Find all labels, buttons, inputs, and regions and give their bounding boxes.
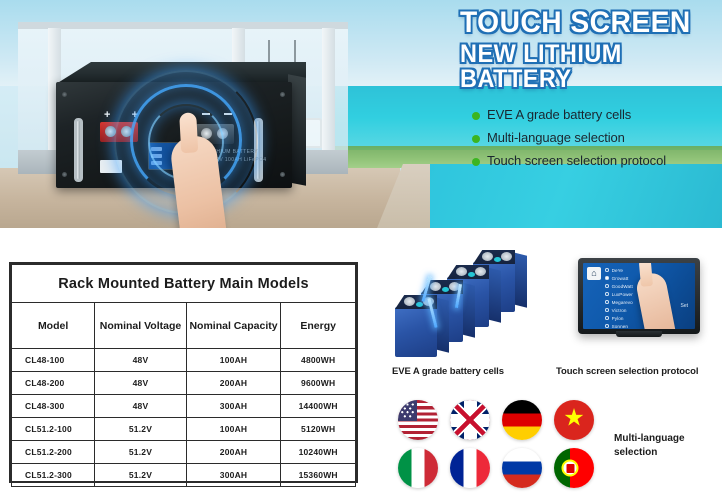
list-item: EVE A grade battery cells — [472, 108, 720, 123]
protocol-option[interactable]: Sonnen — [605, 322, 633, 329]
flag-france[interactable] — [450, 448, 490, 488]
monitor-bezel: ⌂ DeYe Growatt GoodWatt LuxPower — [578, 258, 700, 334]
table-title: Rack Mounted Battery Main Models — [12, 265, 356, 303]
cell-energy: 4800WH — [281, 349, 356, 372]
flag-russia[interactable] — [502, 448, 542, 488]
table-row: CL48-300 48V 300AH 14400WH — [12, 395, 356, 418]
flag-germany[interactable] — [502, 400, 542, 440]
cell-energy: 5120WH — [281, 418, 356, 441]
page-title-line1: TOUCH SCREEN — [460, 8, 703, 39]
set-button[interactable]: Set — [680, 303, 688, 309]
cell-energy: 14400WH — [281, 395, 356, 418]
cell-vent-icon — [494, 257, 501, 262]
list-item: Multi-language selection — [472, 131, 720, 146]
list-item: Touch screen selection protocol — [472, 154, 720, 169]
protocol-list[interactable]: DeYe Growatt GoodWatt LuxPower Megarevo — [605, 266, 633, 329]
monitor-display[interactable]: ⌂ DeYe Growatt GoodWatt LuxPower — [583, 263, 695, 329]
table-title-row: Rack Mounted Battery Main Models — [12, 265, 356, 303]
radio-icon[interactable] — [605, 316, 609, 320]
page-title-line2: NEW LITHIUM BATTERY — [460, 42, 703, 93]
table-row: CL51.2-100 51.2V 100AH 5120WH — [12, 418, 356, 441]
cell-vent-icon — [442, 287, 449, 292]
prismatic-cell — [395, 295, 447, 357]
radio-icon[interactable] — [605, 300, 609, 304]
radio-icon[interactable] — [605, 292, 609, 296]
home-icon[interactable]: ⌂ — [587, 267, 601, 280]
cell-model: CL51.2-200 — [12, 441, 95, 464]
multi-language-label-line2: selection — [614, 446, 714, 460]
column-header-capacity: Nominal Capacity — [186, 303, 281, 349]
cell-capacity: 100AH — [186, 349, 281, 372]
cell-energy: 9600WH — [281, 372, 356, 395]
battery-handle-left[interactable] — [74, 118, 83, 182]
rack-battery-product: + + LITHIUM BATTE — [56, 62, 306, 190]
multi-language-label: Multi-language selection — [614, 432, 714, 459]
protocol-label: Sonnen — [612, 324, 628, 329]
cell-model: CL51.2-300 — [12, 464, 95, 487]
protocol-label: Pylon — [612, 316, 624, 321]
bullet-dot-icon — [472, 135, 480, 143]
radio-icon[interactable] — [605, 308, 609, 312]
hero-headline: TOUCH SCREEN NEW LITHIUM BATTERY — [460, 8, 718, 93]
flag-united-states[interactable] — [398, 400, 438, 440]
protocol-option[interactable]: Pylon — [605, 314, 633, 322]
armillary-icon — [562, 460, 579, 477]
flag-portugal[interactable] — [554, 448, 594, 488]
protocol-label: Growatt — [612, 276, 629, 281]
hero-feature-list: EVE A grade battery cells Multi-language… — [472, 108, 720, 177]
hand-touching-screen — [634, 271, 677, 329]
protocol-option[interactable]: Growatt — [605, 274, 633, 282]
cell-terminal-icon — [475, 267, 486, 276]
bullet-dot-icon — [472, 112, 480, 120]
index-finger — [639, 263, 653, 287]
bullet-label: EVE A grade battery cells — [487, 108, 631, 123]
cell-terminal-icon — [456, 267, 467, 276]
cell-energy: 15360WH — [281, 464, 356, 487]
cell-energy: 10240WH — [281, 441, 356, 464]
protocol-option[interactable]: LuxPower — [605, 290, 633, 298]
protocol-option[interactable]: Megarevo — [605, 298, 633, 306]
protocol-option[interactable]: GoodWatt — [605, 282, 633, 290]
screw-icon — [62, 92, 67, 97]
cell-capacity: 300AH — [186, 395, 281, 418]
column-header-model: Model — [12, 303, 95, 349]
cell-terminal-icon — [501, 252, 512, 261]
language-flags: ★ — [398, 400, 594, 488]
protocol-option[interactable]: Victron — [605, 306, 633, 314]
cell-capacity: 200AH — [186, 441, 281, 464]
bullet-label: Multi-language selection — [487, 131, 625, 146]
cell-terminal-icon — [404, 297, 415, 306]
us-canton — [398, 400, 417, 421]
protocol-label: Megarevo — [612, 300, 633, 305]
cell-voltage: 48V — [95, 372, 187, 395]
protocol-label: Victron — [612, 308, 627, 313]
villa-pillar — [322, 28, 335, 154]
plus-sign-1: + — [104, 109, 110, 121]
multi-language-label-line1: Multi-language — [614, 432, 714, 446]
table-row: CL51.2-300 51.2V 300AH 15360WH — [12, 464, 356, 487]
eve-battery-cells-graphic — [395, 250, 555, 355]
cell-voltage: 48V — [95, 395, 187, 418]
protocol-label: DeYe — [612, 268, 623, 273]
cell-capacity: 200AH — [186, 372, 281, 395]
cell-model: CL48-200 — [12, 372, 95, 395]
bullet-label: Touch screen selection protocol — [487, 154, 666, 169]
touch-screen-graphic: ⌂ DeYe Growatt GoodWatt LuxPower — [578, 258, 700, 338]
cell-capacity: 300AH — [186, 464, 281, 487]
star-icon: ★ — [563, 407, 585, 431]
hero-banner: + + LITHIUM BATTE — [0, 0, 722, 228]
cell-vent-icon — [416, 302, 423, 307]
monitor-stand — [616, 331, 662, 337]
screw-icon — [280, 92, 285, 97]
radio-icon[interactable] — [605, 268, 609, 272]
cell-voltage: 51.2V — [95, 418, 187, 441]
eve-cells-caption: EVE A grade battery cells — [392, 366, 504, 377]
cell-terminal-icon — [482, 252, 493, 261]
cell-voltage: 51.2V — [95, 441, 187, 464]
cell-terminal-icon — [430, 282, 441, 291]
models-table: Rack Mounted Battery Main Models Model N… — [11, 264, 356, 487]
flag-italy[interactable] — [398, 448, 438, 488]
protocol-option[interactable]: DeYe — [605, 266, 633, 274]
cell-model: CL48-300 — [12, 395, 95, 418]
screw-icon — [62, 172, 67, 177]
table-header-row: Model Nominal Voltage Nominal Capacity E… — [12, 303, 356, 349]
cell-voltage: 48V — [95, 349, 187, 372]
cell-model: CL48-100 — [12, 349, 95, 372]
screw-icon — [280, 172, 285, 177]
models-table-container: Rack Mounted Battery Main Models Model N… — [9, 262, 358, 483]
flag-vietnam[interactable]: ★ — [554, 400, 594, 440]
flag-united-kingdom[interactable] — [450, 400, 490, 440]
index-finger — [179, 112, 198, 153]
protocol-label: LuxPower — [612, 292, 633, 297]
radio-icon-selected[interactable] — [605, 276, 609, 280]
touch-screen-caption: Touch screen selection protocol — [556, 366, 698, 377]
bullet-dot-icon — [472, 158, 480, 166]
cell-voltage: 51.2V — [95, 464, 187, 487]
table-row: CL48-200 48V 200AH 9600WH — [12, 372, 356, 395]
table-row: CL51.2-200 51.2V 200AH 10240WH — [12, 441, 356, 464]
column-header-energy: Energy — [281, 303, 356, 349]
protocol-label: GoodWatt — [612, 284, 633, 289]
radio-icon[interactable] — [605, 284, 609, 288]
cell-vent-icon — [468, 272, 475, 277]
column-header-voltage: Nominal Voltage — [95, 303, 187, 349]
cell-capacity: 100AH — [186, 418, 281, 441]
radio-icon[interactable] — [605, 324, 609, 328]
table-row: CL48-100 48V 100AH 4800WH — [12, 349, 356, 372]
cell-model: CL51.2-100 — [12, 418, 95, 441]
